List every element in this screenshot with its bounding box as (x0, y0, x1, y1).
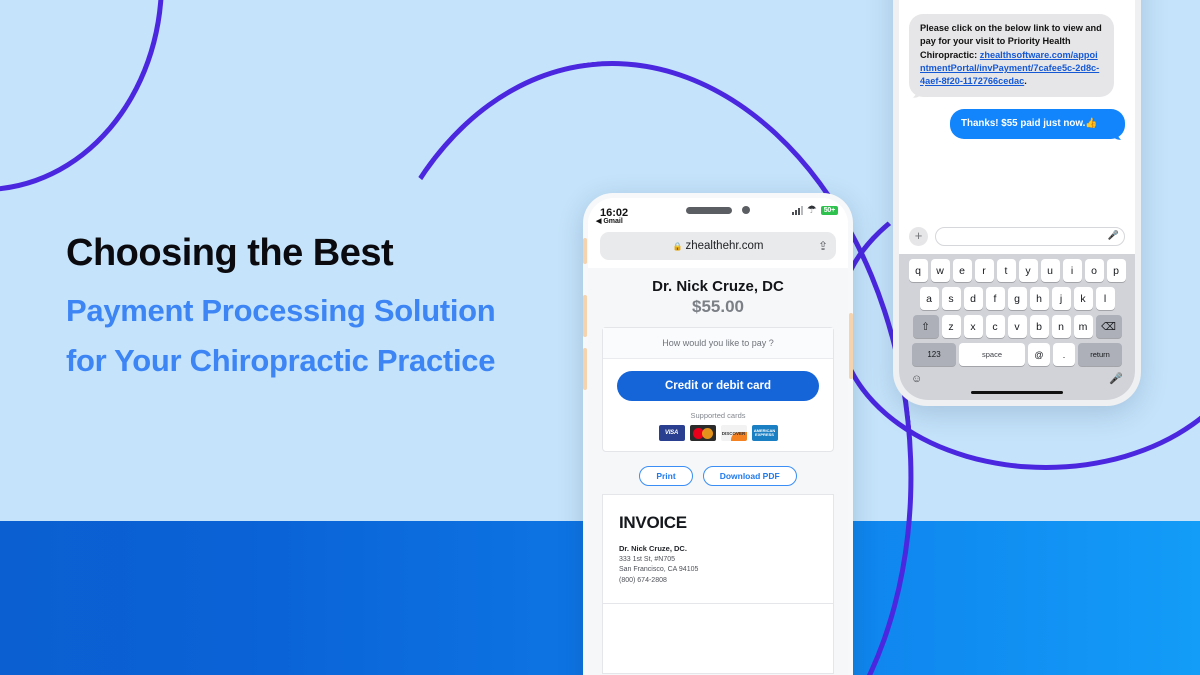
return-key[interactable]: return (1078, 343, 1122, 366)
home-indicator (971, 391, 1063, 394)
space-key[interactable]: space (959, 343, 1025, 366)
key-o[interactable]: o (1085, 259, 1104, 282)
key-e[interactable]: e (953, 259, 972, 282)
status-bar: 16:02 ◀ Gmail ☂ 50+ (588, 198, 848, 228)
incoming-message-trailing: . (1024, 76, 1027, 86)
key-m[interactable]: m (1074, 315, 1093, 338)
headline-line-2: Payment Processing Solution (66, 286, 586, 336)
lock-icon: 🔒 (673, 242, 683, 251)
discover-card-logo: DISCOVER (721, 425, 747, 441)
shift-key-icon[interactable]: ⇧ (913, 315, 939, 338)
incoming-message-bubble: Please click on the below link to view a… (909, 14, 1114, 97)
document-actions: Print Download PDF (588, 466, 848, 486)
mastercard-card-logo (690, 425, 716, 441)
invoice-address-line-1: 333 1st St, #N705 (619, 555, 817, 566)
payment-method-card: How would you like to pay ? Credit or de… (602, 327, 834, 452)
invoice-details-section (602, 604, 834, 674)
onscreen-keyboard: q w e r t y u i o p a s d f g h (899, 254, 1135, 400)
invoice-address-line-2: San Francisco, CA 94105 (619, 565, 817, 576)
invoice-business-name: Dr. Nick Cruze, DC. (619, 543, 817, 555)
keyboard-row-2: a s d f g h j k l (902, 287, 1132, 310)
message-thread: Please click on the below link to view a… (899, 0, 1135, 220)
keyboard-bottom-row: ☺ 🎤 (902, 371, 1132, 388)
key-t[interactable]: t (997, 259, 1016, 282)
payment-question: How would you like to pay ? (603, 328, 833, 359)
invoice-amount: $55.00 (588, 297, 848, 317)
microphone-icon[interactable]: 🎤 (1108, 230, 1119, 241)
supported-card-logos: VISA DISCOVER AMERICAN EXPRESS (617, 425, 819, 441)
keyboard-row-4: 123 space @ . return (902, 343, 1132, 366)
key-s[interactable]: s (942, 287, 961, 310)
invoice-document: INVOICE Dr. Nick Cruze, DC. 333 1st St, … (602, 494, 834, 604)
at-key[interactable]: @ (1028, 343, 1050, 366)
key-x[interactable]: x (964, 315, 983, 338)
message-input[interactable]: 🎤 (935, 227, 1125, 246)
phone-screen: 16:02 ◀ Gmail ☂ 50+ 🔒 zhealthehr.com ⇪ (588, 198, 848, 675)
phone-volume-up-button[interactable] (583, 295, 587, 337)
address-bar-host: zhealthehr.com (685, 240, 763, 252)
wifi-icon: ☂ (807, 206, 817, 215)
provider-name: Dr. Nick Cruze, DC (588, 278, 848, 295)
key-b[interactable]: b (1030, 315, 1049, 338)
headline-line-1: Choosing the Best (66, 228, 586, 278)
key-w[interactable]: w (931, 259, 950, 282)
key-a[interactable]: a (920, 287, 939, 310)
phone-power-button[interactable] (849, 313, 853, 379)
payment-card-body: Credit or debit card Supported cards VIS… (603, 359, 833, 451)
messages-screen: Please click on the below link to view a… (899, 0, 1135, 400)
promo-banner: Choosing the Best Payment Processing Sol… (0, 0, 1200, 675)
dictation-microphone-icon[interactable]: 🎤 (1109, 372, 1123, 385)
headline-line-3: for Your Chiropractic Practice (66, 336, 586, 386)
key-j[interactable]: j (1052, 287, 1071, 310)
invoice-phone: (800) 674-2808 (619, 576, 817, 587)
invoice-title: INVOICE (619, 513, 817, 533)
key-q[interactable]: q (909, 259, 928, 282)
key-z[interactable]: z (942, 315, 961, 338)
download-pdf-button[interactable]: Download PDF (703, 466, 797, 486)
key-c[interactable]: c (986, 315, 1005, 338)
key-k[interactable]: k (1074, 287, 1093, 310)
key-i[interactable]: i (1063, 259, 1082, 282)
back-to-gmail-link[interactable]: ◀ Gmail (596, 217, 623, 225)
key-h[interactable]: h (1030, 287, 1049, 310)
address-bar[interactable]: 🔒 zhealthehr.com ⇪ (600, 232, 836, 260)
emoji-key-icon[interactable]: ☺ (911, 373, 922, 385)
key-y[interactable]: y (1019, 259, 1038, 282)
phone-volume-down-button[interactable] (583, 348, 587, 390)
keyboard-row-3: ⇧ z x c v b n m ⌫ (902, 315, 1132, 338)
speaker-slot-icon (686, 207, 732, 214)
key-d[interactable]: d (964, 287, 983, 310)
supported-cards-label: Supported cards (617, 411, 819, 420)
numbers-key[interactable]: 123 (912, 343, 956, 366)
keyboard-row-1: q w e r t y u i o p (902, 259, 1132, 282)
print-button[interactable]: Print (639, 466, 692, 486)
headline: Choosing the Best Payment Processing Sol… (66, 228, 586, 386)
phone-silence-switch[interactable] (583, 238, 587, 264)
key-v[interactable]: v (1008, 315, 1027, 338)
message-composer: + 🎤 (899, 220, 1135, 254)
key-p[interactable]: p (1107, 259, 1126, 282)
key-l[interactable]: l (1096, 287, 1115, 310)
visa-card-logo: VISA (659, 425, 685, 441)
battery-badge: 50+ (821, 206, 838, 215)
front-camera-icon (742, 206, 750, 214)
browser-chrome: 🔒 zhealthehr.com ⇪ (588, 228, 848, 268)
key-n[interactable]: n (1052, 315, 1071, 338)
plus-icon[interactable]: + (909, 227, 928, 246)
backspace-key-icon[interactable]: ⌫ (1096, 315, 1122, 338)
share-icon[interactable]: ⇪ (818, 239, 828, 253)
phone-messages-mockup: Please click on the below link to view a… (893, 0, 1141, 406)
page-content: Dr. Nick Cruze, DC $55.00 How would you … (588, 268, 848, 675)
credit-debit-card-button[interactable]: Credit or debit card (617, 371, 819, 401)
key-u[interactable]: u (1041, 259, 1060, 282)
dynamic-island (686, 206, 750, 214)
key-g[interactable]: g (1008, 287, 1027, 310)
key-r[interactable]: r (975, 259, 994, 282)
outgoing-message-bubble: Thanks! $55 paid just now.👍 (950, 109, 1125, 139)
cellular-signal-icon (792, 206, 803, 215)
amex-card-logo: AMERICAN EXPRESS (752, 425, 778, 441)
phone-browser-mockup: 16:02 ◀ Gmail ☂ 50+ 🔒 zhealthehr.com ⇪ (583, 193, 853, 675)
period-key[interactable]: . (1053, 343, 1075, 366)
key-f[interactable]: f (986, 287, 1005, 310)
status-indicators: ☂ 50+ (792, 206, 838, 215)
